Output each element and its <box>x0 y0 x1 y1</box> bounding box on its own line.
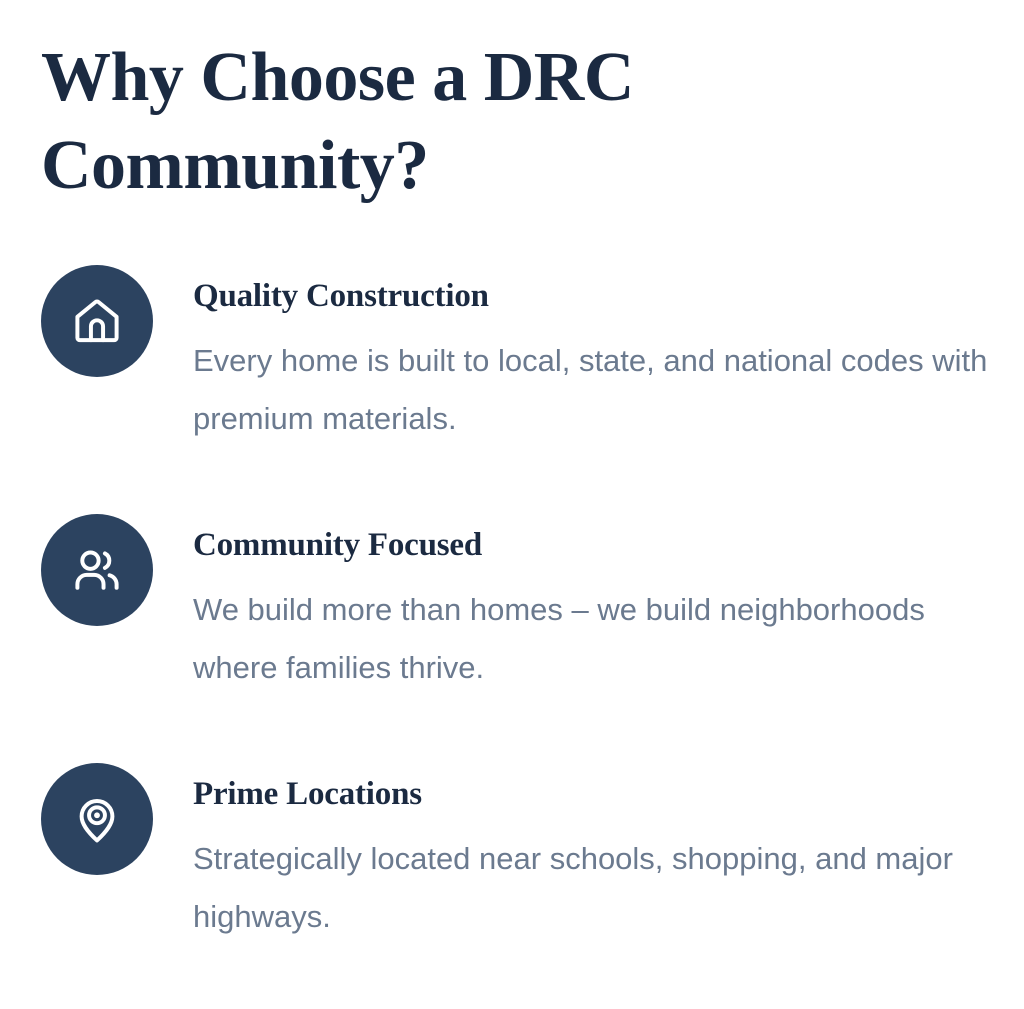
feature-description: We build more than homes – we build neig… <box>193 565 993 697</box>
feature-description: Every home is built to local, state, and… <box>193 316 993 448</box>
page-title: Why Choose a DRC Community? <box>41 34 741 210</box>
feature-title: Prime Locations <box>193 760 1024 814</box>
feature-description: Strategically located near schools, shop… <box>193 814 993 946</box>
list-item: Community Focused We build more than hom… <box>0 511 1024 760</box>
feature-title: Community Focused <box>193 511 1024 565</box>
list-item: Prime Locations Strategically located ne… <box>0 760 1024 1009</box>
map-pin-icon <box>41 763 153 875</box>
home-icon <box>41 265 153 377</box>
feature-title: Quality Construction <box>193 262 1024 316</box>
why-choose-section: Why Choose a DRC Community? Quality Cons… <box>0 0 1024 1001</box>
users-icon <box>41 514 153 626</box>
feature-list: Quality Construction Every home is built… <box>0 262 1024 1009</box>
list-item: Quality Construction Every home is built… <box>0 262 1024 511</box>
